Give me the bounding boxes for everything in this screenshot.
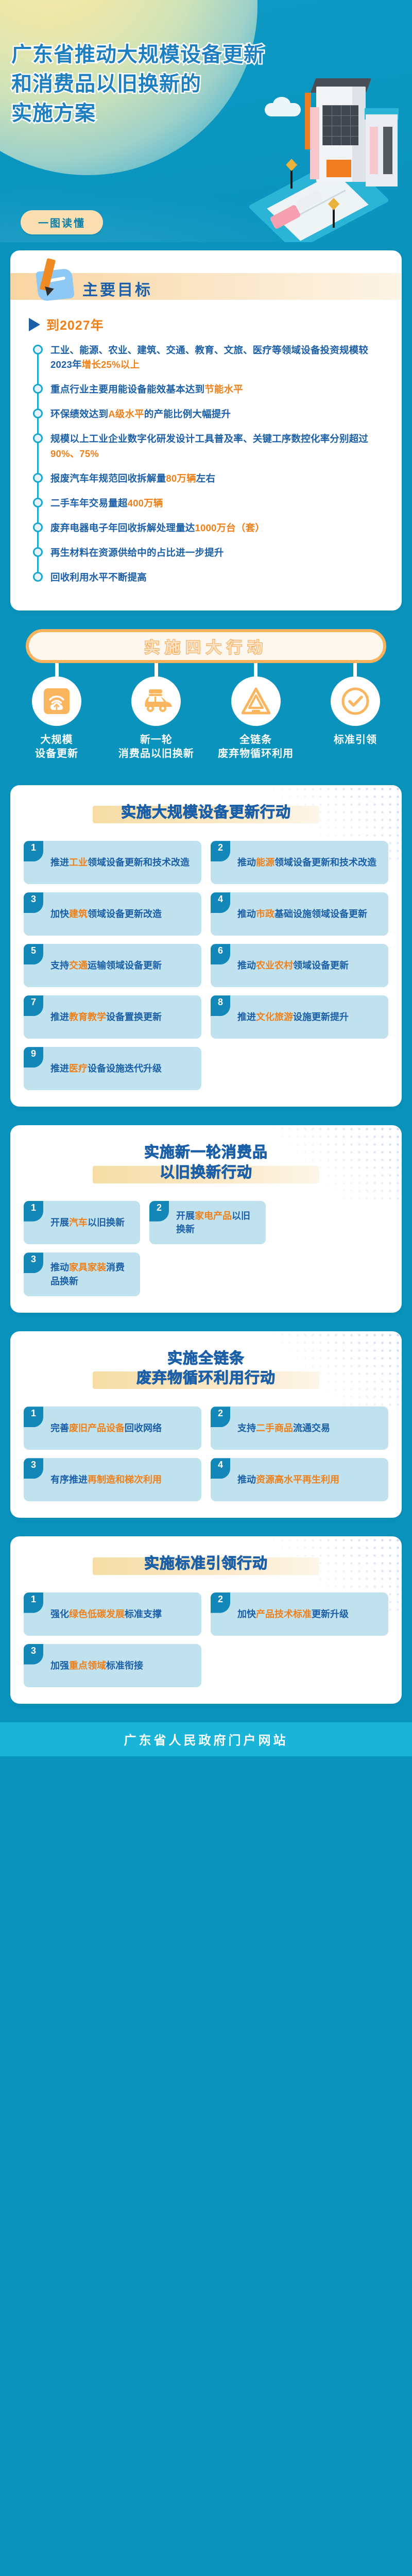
timeline-dot-icon [33,547,43,557]
goal-item: 废弃电器电子年回收拆解处理量达1000万台（套） [50,521,388,535]
highlighted-text: 农业农村 [256,960,293,971]
action-chip-text: 支持二手商品流通交易 [237,1421,330,1435]
action-chip-text: 推动能源领域设备更新和技术改造 [237,856,376,869]
timeline-dot-icon [33,345,43,354]
goal-item: 工业、能源、农业、建筑、交通、教育、文旅、医疗等领域设备投资规模较2023年增长… [50,343,388,372]
highlighted-text: 市政 [256,909,274,919]
action-chip[interactable]: 2支持二手商品流通交易 [211,1406,388,1450]
action-chip[interactable]: 3加快建筑领域设备更新改造 [24,892,201,936]
timeline-dot-icon [33,409,43,418]
action-chip-number: 4 [211,892,230,913]
year-marker-label: 到2027年 [46,315,104,334]
action-chip[interactable]: 6推动农业农村领域设备更新 [211,944,388,987]
highlighted-text: 产品技术标准 [256,1609,312,1619]
four-action-label: 新一轮消费品以旧换新 [118,733,194,760]
action-chip-text: 推进医疗设备设施迭代升级 [50,1062,162,1075]
highlighted-text: 节能水平 [204,384,243,395]
action-chip-number: 7 [24,995,43,1016]
goal-item-text: 回收利用水平不断提高 [50,570,388,585]
four-actions-banner-label: 实施四大行动 [144,635,268,657]
footer-label: 广东省人民政府门户网站 [124,1730,288,1748]
action-chip[interactable]: 3加强重点领域标准衔接 [24,1644,201,1687]
four-action-label: 标准引领 [334,733,377,747]
timeline-dot-icon [33,384,43,394]
four-actions-banner: 实施四大行动 [26,629,386,663]
highlighted-text: 1000万台（套） [195,522,265,533]
four-action-item-1[interactable]: 大规模设备更新 [13,663,100,760]
timeline-dot-icon [33,498,43,507]
hanger-stem [353,663,357,676]
highlighted-text: 重点领域 [69,1660,106,1671]
highlighted-text: A级水平 [108,409,144,419]
action-chip-text: 有序推进再制造和梯次利用 [50,1473,162,1486]
highlighted-text: 医疗 [69,1063,88,1074]
four-action-item-2[interactable]: 新一轮消费品以旧换新 [113,663,199,760]
goal-item-text: 工业、能源、农业、建筑、交通、教育、文旅、医疗等领域设备投资规模较2023年增长… [50,343,388,372]
highlighted-text: 汽车 [69,1217,88,1228]
action-chip[interactable]: 3推动家具家装消费品换新 [24,1252,140,1296]
action-chip[interactable]: 9推进医疗设备设施迭代升级 [24,1047,201,1090]
goal-item: 再生材料在资源供给中的占比进一步提升 [50,546,388,560]
highlighted-text: 家具家装 [69,1262,106,1273]
action-chip-text: 推进教育教学设备置换更新 [50,1010,162,1024]
action-chip-text: 开展家电产品以旧换新 [176,1209,259,1236]
highlighted-text: 交通 [69,960,88,971]
section-header: 实施大规模设备更新行动 [10,785,402,827]
highlighted-text: 再制造和梯次利用 [88,1475,162,1485]
goal-item-text: 再生材料在资源供给中的占比进一步提升 [50,546,388,560]
goal-item: 报废汽车年规范回收拆解量80万辆左右 [50,471,388,486]
action-chip-text: 推进工业领域设备更新和技术改造 [50,856,190,869]
action-chip-text: 推动市政基础设施领域设备更新 [237,907,367,921]
action-chip[interactable]: 4推动资源高水平再生利用 [211,1458,388,1501]
car-icon [131,676,181,726]
action-chip[interactable]: 1强化绿色低碳发展标准支撑 [24,1592,201,1636]
highlighted-text: 教育教学 [69,1012,106,1022]
goal-item-text: 环保绩效达到A级水平的产能比例大幅提升 [50,407,388,421]
goal-item: 二手车年交易量超400万辆 [50,496,388,511]
hanger-stem [55,663,59,676]
action-chip-number: 1 [24,841,43,861]
action-chip[interactable]: 1开展汽车以旧换新 [24,1201,140,1245]
action-chip-text: 开展汽车以旧换新 [50,1216,125,1229]
goal-item-text: 二手车年交易量超400万辆 [50,496,388,511]
action-chip-number: 9 [24,1047,43,1067]
four-actions-section: 实施四大行动 大规模设备更新新一轮消费品以旧换新全链条废弃物循环利用标准引领 [0,629,412,768]
highlighted-text: 二手商品 [256,1423,293,1433]
section-title: 实施全链条 [10,1349,402,1368]
street-lamp-icon [333,207,335,228]
action-chip-text: 加强重点领域标准衔接 [50,1659,143,1672]
highlighted-text: 家电产品 [195,1211,232,1221]
action-chip-number: 8 [211,995,230,1016]
highlighted-text: 增长 [82,359,101,370]
title-line-2: 和消费品以旧换新的 [11,70,300,99]
pencil-paper-icon [28,258,75,307]
action-card-grid: 1开展汽车以旧换新2开展家电产品以旧换新3推动家具家装消费品换新 [10,1188,402,1313]
highlighted-text: 文化旅游 [256,1012,293,1022]
hanger-stem [154,663,158,676]
recycle-triangle-icon [231,676,281,726]
header-banner: 广东省推动大规模设备更新 和消费品以旧换新的 实施方案 一图读懂 [0,0,412,242]
hanger-stem [254,663,257,676]
action-section-card-3: 实施全链条废弃物循环利用行动1完善废旧产品设备回收网络2支持二手商品流通交易3有… [10,1331,402,1518]
highlighted-text: 能源 [256,857,274,868]
goal-item: 规模以上工业企业数字化研发设计工具普及率、关键工序数控化率分别超过90%、75% [50,432,388,461]
action-chip[interactable]: 2推动能源领域设备更新和技术改造 [211,841,388,884]
action-chip-text: 加快产品技术标准更新升级 [237,1607,349,1621]
site-footer: 广东省人民政府门户网站 [0,1722,412,1756]
action-chip-text: 推动家具家装消费品换新 [50,1261,133,1288]
action-section-card-2: 实施新一轮消费品以旧换新行动1开展汽车以旧换新2开展家电产品以旧换新3推动家具家… [10,1125,402,1313]
action-chip-number: 3 [24,892,43,913]
timeline-dot-icon [33,473,43,483]
action-chip[interactable]: 2加快产品技术标准更新升级 [211,1592,388,1636]
section-title: 以旧换新行动 [10,1163,402,1182]
four-action-item-3[interactable]: 全链条废弃物循环利用 [213,663,299,760]
action-chip-number: 1 [24,1592,43,1613]
highlighted-text: 90%、75% [50,448,99,459]
timeline-dot-icon [33,572,43,582]
main-goals-card: 主要目标 到2027年 工业、能源、农业、建筑、交通、教育、文旅、医疗等领域设备… [10,250,402,611]
goal-item: 重点行业主要用能设备能效基本达到节能水平 [50,382,388,397]
action-chip-number: 5 [24,944,43,964]
section-header: 实施标准引领行动 [10,1536,402,1579]
action-chip[interactable]: 4推动市政基础设施领域设备更新 [211,892,388,936]
read-in-one-chart-badge: 一图读懂 [21,210,103,234]
main-goals-title: 主要目标 [82,277,152,300]
action-chip-number: 3 [24,1252,43,1273]
four-action-item-4[interactable]: 标准引领 [312,663,399,760]
title-line-1: 广东省推动大规模设备更新 [11,40,300,70]
action-chip-number: 2 [211,841,230,861]
action-chip-number: 1 [24,1406,43,1427]
section-header: 实施全链条废弃物循环利用行动 [10,1331,402,1394]
action-chip-number: 3 [24,1644,43,1665]
action-card-grid: 1推进工业领域设备更新和技术改造2推动能源领域设备更新和技术改造3加快建筑领域设… [10,827,402,1107]
goal-item-text: 规模以上工业企业数字化研发设计工具普及率、关键工序数控化率分别超过90%、75% [50,432,388,461]
action-chip[interactable]: 1推进工业领域设备更新和技术改造 [24,841,201,884]
action-section-card-4: 实施标准引领行动1强化绿色低碳发展标准支撑2加快产品技术标准更新升级3加强重点领… [10,1536,402,1703]
goal-item: 回收利用水平不断提高 [50,570,388,585]
action-chip-text: 完善废旧产品设备回收网络 [50,1421,162,1435]
title-line-3: 实施方案 [11,99,300,128]
action-chip-text: 推进文化旅游设施更新提升 [237,1010,349,1024]
action-chip-text: 推动农业农村领域设备更新 [237,959,349,972]
four-action-label: 全链条废弃物循环利用 [218,733,294,760]
building-pink-panel [310,107,319,179]
highlighted-text: 废旧产品设备 [69,1423,125,1433]
year-marker: 到2027年 [29,315,402,334]
action-card-grid: 1完善废旧产品设备回收网络2支持二手商品流通交易3有序推进再制造和梯次利用4推动… [10,1393,402,1518]
four-actions-grid: 大规模设备更新新一轮消费品以旧换新全链条废弃物循环利用标准引领 [0,663,412,760]
timeline-dot-icon [33,522,43,532]
action-section-card-1: 实施大规模设备更新行动1推进工业领域设备更新和技术改造2推动能源领域设备更新和技… [10,785,402,1107]
building-windows [322,105,358,145]
side-building-panel [370,127,378,174]
goal-item-text: 废弃电器电子年回收拆解处理量达1000万台（套） [50,521,388,535]
goals-timeline: 工业、能源、农业、建筑、交通、教育、文旅、医疗等领域设备投资规模较2023年增长… [33,343,388,585]
main-goals-header: 主要目标 [10,250,402,311]
four-action-label: 大规模设备更新 [35,733,78,760]
street-lamp-icon [290,168,293,189]
action-chip[interactable]: 8推进文化旅游设施更新提升 [211,995,388,1039]
action-chip-number: 6 [211,944,230,964]
action-chip-number: 2 [149,1201,169,1222]
highlighted-text: 资源高水平再生利用 [256,1475,339,1485]
section-title: 实施新一轮消费品 [10,1143,402,1162]
shield-check-icon [331,676,380,726]
action-chip-text: 加快建筑领域设备更新改造 [50,907,162,921]
action-card-grid: 1强化绿色低碳发展标准支撑2加快产品技术标准更新升级3加强重点领域标准衔接 [10,1579,402,1704]
highlighted-text: 绿色低碳发展 [69,1609,125,1619]
highlighted-text: 400万辆 [128,498,163,509]
section-title: 实施大规模设备更新行动 [10,803,402,822]
timeline-dot-icon [33,433,43,443]
section-header: 实施新一轮消费品以旧换新行动 [10,1125,402,1188]
action-sections: 实施大规模设备更新行动1推进工业领域设备更新和技术改造2推动能源领域设备更新和技… [0,785,412,1704]
triangle-bullet-icon [29,318,40,331]
action-chip[interactable]: 2开展家电产品以旧换新 [149,1201,266,1245]
section-title: 废弃物循环利用行动 [10,1368,402,1388]
action-chip[interactable]: 5支持交通运输领域设备更新 [24,944,201,987]
goal-item-text: 报废汽车年规范回收拆解量80万辆左右 [50,471,388,486]
action-chip[interactable]: 1完善废旧产品设备回收网络 [24,1406,201,1450]
page-title: 广东省推动大规模设备更新 和消费品以旧换新的 实施方案 [11,40,300,128]
side-building-windows [383,127,392,174]
action-chip[interactable]: 3有序推进再制造和梯次利用 [24,1458,201,1501]
action-chip-number: 2 [211,1406,230,1427]
action-chip-text: 强化绿色低碳发展标准支撑 [50,1607,162,1621]
action-chip-number: 1 [24,1201,43,1222]
cloud-upload-signal-icon [32,676,81,726]
action-chip-text: 支持交通运输领域设备更新 [50,959,162,972]
section-title: 实施标准引领行动 [10,1554,402,1573]
action-chip-text: 推动资源高水平再生利用 [237,1473,339,1486]
highlighted-text: 25%以上 [101,359,140,370]
highlighted-text: 建筑 [69,909,88,919]
action-chip-number: 4 [211,1458,230,1479]
goal-item-text: 重点行业主要用能设备能效基本达到节能水平 [50,382,388,397]
action-chip-number: 3 [24,1458,43,1479]
goal-item: 环保绩效达到A级水平的产能比例大幅提升 [50,407,388,421]
action-chip-number: 2 [211,1592,230,1613]
highlighted-text: 工业 [69,857,88,868]
action-chip[interactable]: 7推进教育教学设备置换更新 [24,995,201,1039]
building-door [327,160,351,177]
highlighted-text: 80万辆 [166,473,196,484]
